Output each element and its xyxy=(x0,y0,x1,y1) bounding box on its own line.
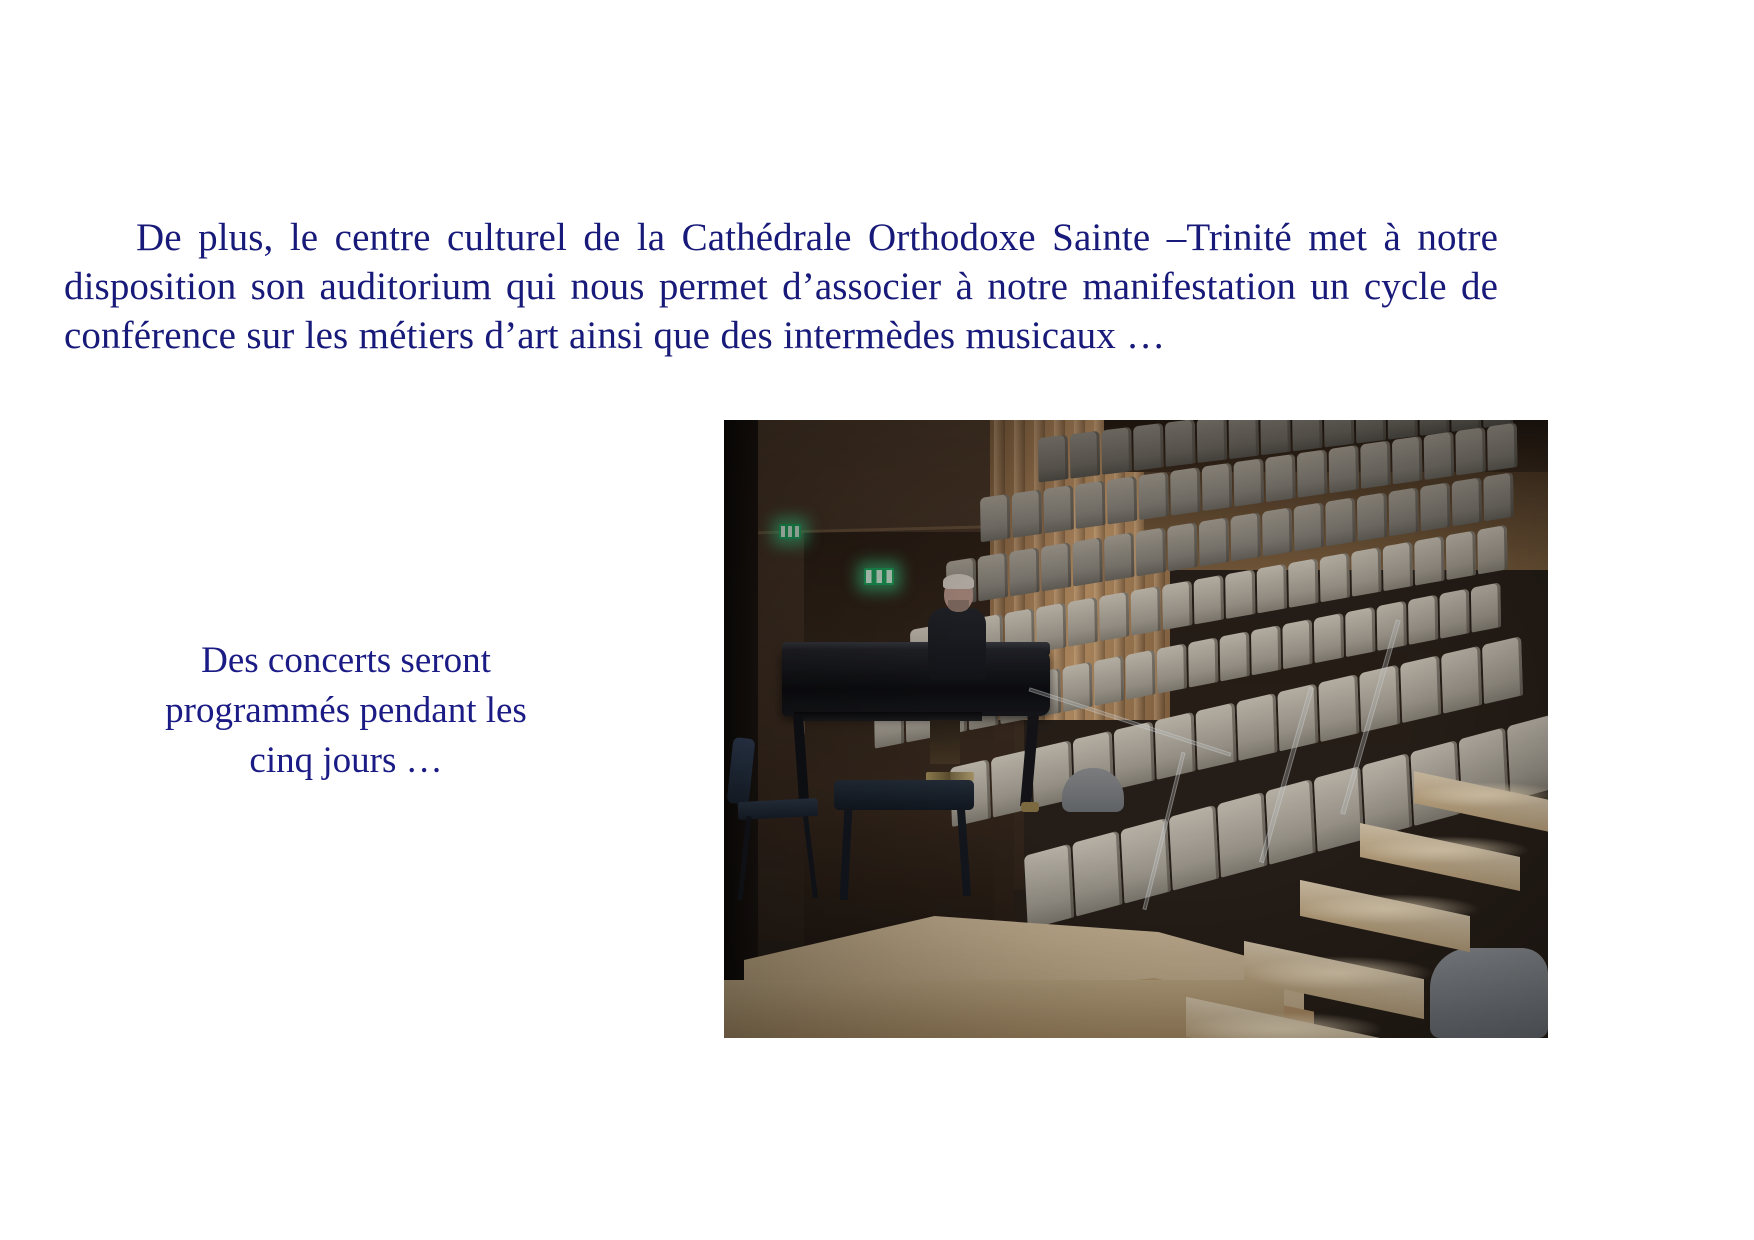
piano-pedal-lyre xyxy=(930,720,960,764)
exit-sign-icon xyxy=(779,524,801,539)
step-light-glow xyxy=(1184,1012,1384,1038)
caption-line-2: programmés pendant les xyxy=(96,686,596,736)
pianist-beard xyxy=(948,600,969,612)
photo-content xyxy=(724,420,1548,1038)
exit-sign-icon xyxy=(864,568,894,585)
slide-canvas: De plus, le centre culturel de la Cathéd… xyxy=(0,0,1754,1240)
piano-caster xyxy=(1021,802,1039,812)
step-light-glow xyxy=(1360,836,1530,864)
auditorium-photo xyxy=(724,420,1548,1038)
step-light-glow xyxy=(1300,894,1480,924)
caption-text-block: Des concerts seront programmés pendant l… xyxy=(96,636,596,786)
step-light-glow xyxy=(1244,956,1434,990)
grand-piano xyxy=(782,650,1050,716)
pianist-hair xyxy=(943,574,974,589)
step-light-glow xyxy=(1414,782,1548,808)
tub-armchair xyxy=(1430,948,1548,1038)
caption-line-3: cinq jours … xyxy=(96,736,596,786)
pianist-figure xyxy=(928,608,986,680)
caption-line-1: Des concerts seront xyxy=(96,636,596,686)
body-paragraph: De plus, le centre culturel de la Cathéd… xyxy=(64,213,1498,360)
piano-bench xyxy=(834,780,974,810)
